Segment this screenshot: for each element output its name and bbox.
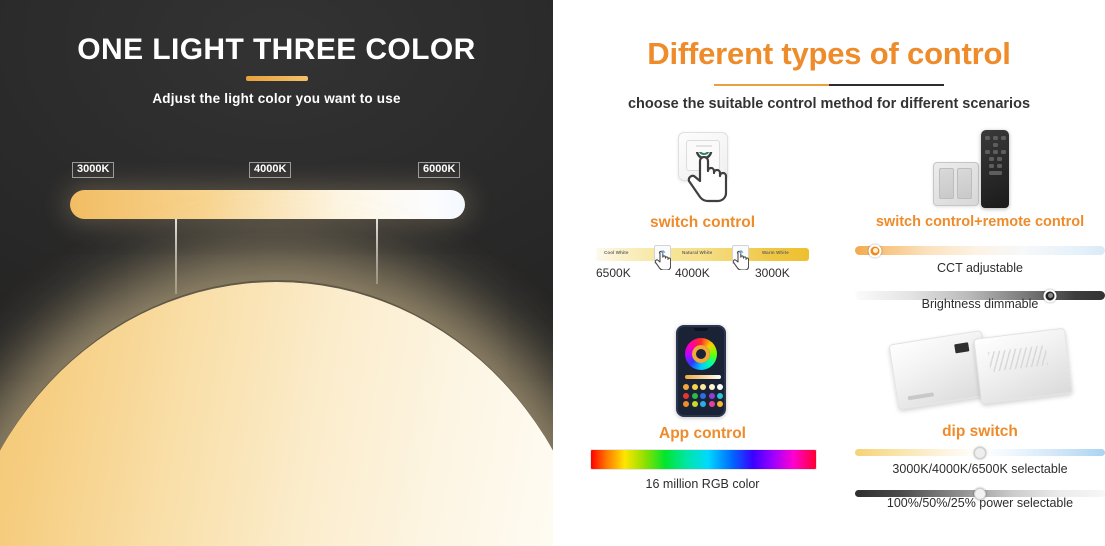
- color-swatch: [700, 401, 706, 407]
- color-swatch: [717, 384, 723, 390]
- remote-button: [997, 164, 1002, 168]
- color-swatch: [692, 401, 698, 407]
- switch-button-left: [939, 168, 954, 199]
- remote-button-row: [981, 171, 1009, 175]
- driver-unit-back: [973, 328, 1072, 405]
- section-dip-switch: dip switch 3000K/4000K/6500K selectable …: [855, 325, 1105, 500]
- left-panel-title: ONE LIGHT THREE COLOR: [0, 33, 553, 67]
- cct-slider-knob[interactable]: [869, 244, 882, 257]
- color-swatch: [700, 393, 706, 399]
- title-underline-accent: [246, 76, 308, 81]
- switch-control-cct-bar: Cool White Natural White Warm White: [596, 248, 809, 261]
- cct-tiny-label-cool-white: Cool White: [604, 250, 629, 255]
- remote-button: [993, 150, 998, 154]
- cct-selectable-label: 3000K/4000K/6500K selectable: [855, 462, 1105, 476]
- power-selectable-label: 100%/50%/25% power selectable: [855, 496, 1105, 510]
- left-panel-subtitle: Adjust the light color you want to use: [0, 91, 553, 106]
- remote-button: [993, 136, 998, 140]
- section-switch-remote-control: switch control+remote control CCT adjust…: [855, 130, 1105, 295]
- phone-notch: [694, 328, 708, 331]
- right-panel-subtitle: choose the suitable control method for d…: [553, 96, 1105, 112]
- wall-switch-2gang-icon: [933, 162, 979, 206]
- title-divider: [714, 84, 944, 86]
- switch-button-right: [957, 168, 972, 199]
- color-wheel-icon: [685, 338, 717, 370]
- right-panel-title: Different types of control: [553, 36, 1105, 72]
- color-swatch: [683, 384, 689, 390]
- knob-dot: [873, 248, 878, 253]
- cct-tiny-label-natural-white: Natural White: [682, 250, 712, 255]
- color-swatch-grid: [683, 384, 723, 407]
- cct-adjustable-label: CCT adjustable: [855, 261, 1105, 275]
- kelvin-3000k: 3000K: [755, 266, 790, 280]
- brightness-dimmable-label: Brightness dimmable: [855, 297, 1105, 311]
- color-swatch: [692, 393, 698, 399]
- remote-button-row: [981, 143, 1009, 147]
- product-infographic: ONE LIGHT THREE COLOR Adjust the light c…: [0, 0, 1105, 546]
- section-app-control: App control 16 million RGB color: [580, 325, 825, 500]
- remote-button: [1001, 150, 1006, 154]
- section-switch-control: switch control Cool White Natural White …: [580, 130, 825, 295]
- hand-marker-2[interactable]: [730, 245, 751, 271]
- kelvin-label-group: 3000K 4000K 6000K: [72, 162, 472, 180]
- color-temperature-bar: [70, 190, 465, 219]
- color-swatch: [709, 384, 715, 390]
- dip-switch-caption: dip switch: [855, 423, 1105, 441]
- hand-cursor-icon-1: [655, 250, 671, 270]
- smartphone-app-icon: [676, 325, 726, 417]
- color-swatch: [683, 401, 689, 407]
- remote-button: [985, 150, 990, 154]
- color-swatch: [692, 384, 698, 390]
- driver-pins: [908, 392, 934, 400]
- color-swatch: [683, 393, 689, 399]
- cct-tiny-label-warm-white: Warm White: [762, 250, 789, 255]
- remote-button-row: [981, 157, 1009, 161]
- led-driver-icon: [893, 327, 1073, 413]
- remote-button-row: [981, 164, 1009, 168]
- cct-selectable-slider[interactable]: [855, 449, 1105, 456]
- kelvin-label-4000k: 4000K: [249, 162, 291, 178]
- pointer-line-6000k: [376, 219, 378, 284]
- pressing-hand-icon: [686, 152, 730, 204]
- rgb-color-spectrum-bar: [590, 449, 817, 470]
- driver-vents: [988, 345, 1048, 372]
- switch-remote-caption: switch control+remote control: [855, 214, 1105, 230]
- remote-button-wide: [989, 171, 1002, 175]
- remote-control-icon: [981, 130, 1009, 208]
- color-swatch: [717, 401, 723, 407]
- wall-switch-touch-icon: [666, 130, 740, 206]
- remote-button-row: [981, 150, 1009, 154]
- left-panel-color-temperature: ONE LIGHT THREE COLOR Adjust the light c…: [0, 0, 553, 546]
- color-swatch: [700, 384, 706, 390]
- rgb-color-label: 16 million RGB color: [580, 477, 825, 491]
- color-swatch: [709, 401, 715, 407]
- dip-switch-block: [954, 342, 969, 353]
- kelvin-label-6000k: 6000K: [418, 162, 460, 178]
- remote-button-row: [981, 136, 1009, 140]
- remote-button: [989, 164, 994, 168]
- remote-button: [1001, 136, 1006, 140]
- remote-button: [993, 143, 998, 147]
- app-control-caption: App control: [580, 425, 825, 443]
- cct-adjustable-slider[interactable]: [855, 246, 1105, 255]
- color-swatch: [709, 393, 715, 399]
- switch-control-caption: switch control: [580, 214, 825, 232]
- remote-button: [985, 136, 990, 140]
- kelvin-label-3000k: 3000K: [72, 162, 114, 178]
- hand-marker-1[interactable]: [652, 245, 673, 271]
- cct-selectable-knob[interactable]: [974, 447, 986, 459]
- hand-cursor-icon-2: [733, 250, 749, 270]
- kelvin-4000k: 4000K: [675, 266, 710, 280]
- color-swatch: [717, 393, 723, 399]
- remote-button: [997, 157, 1002, 161]
- app-brightness-slider: [685, 375, 721, 379]
- kelvin-6500k: 6500K: [596, 266, 631, 280]
- pointer-line-4000k: [175, 219, 177, 294]
- remote-button: [989, 157, 994, 161]
